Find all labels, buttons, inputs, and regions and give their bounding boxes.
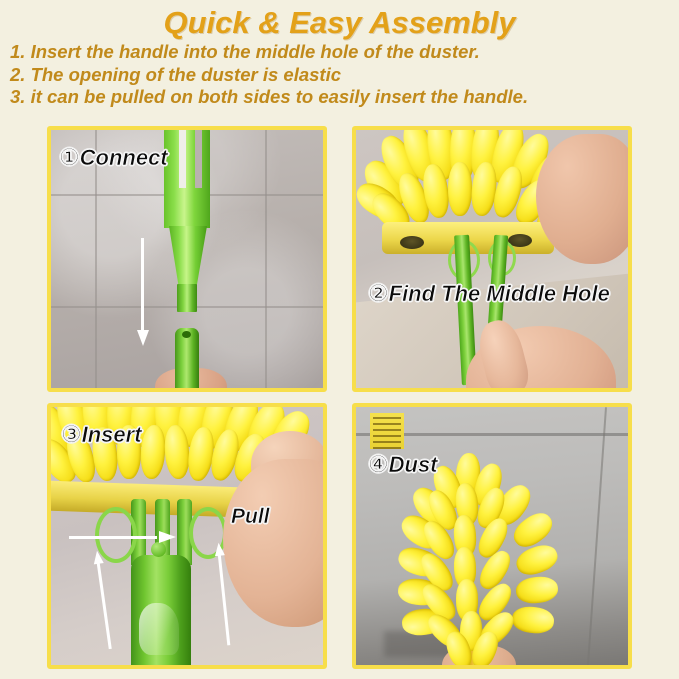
pull-label: Pull <box>231 505 270 529</box>
step-label-dust: ④Dust <box>368 451 438 478</box>
step-panel-find-middle-hole: ②Find The Middle Hole <box>352 126 632 392</box>
photo-dust <box>356 407 628 665</box>
step-number-3: ③ <box>61 421 82 447</box>
page-title: Quick & Easy Assembly <box>0 6 679 40</box>
duster-handle-socket <box>164 130 210 228</box>
photo-find-middle-hole <box>356 130 628 388</box>
step-number-4: ④ <box>368 451 389 477</box>
step-panel-insert: ③Insert Pull <box>47 403 327 669</box>
step-label-connect: ①Connect <box>59 144 168 171</box>
assembled-duster-head <box>408 459 548 649</box>
assembly-step-grid: ①Connect <box>47 126 632 669</box>
handle-connector-hole <box>182 331 191 338</box>
handle-neck <box>177 284 197 312</box>
step-label-find-middle-hole: ②Find The Middle Hole <box>368 280 610 307</box>
step-instruction-1: 1. Insert the handle into the middle hol… <box>0 41 679 64</box>
yellow-sticker <box>370 413 404 449</box>
tile-grout-line <box>265 130 267 388</box>
step-label-text-1: Connect <box>80 145 168 170</box>
step-instruction-2: 2. The opening of the duster is elastic <box>0 64 679 87</box>
handle-highlight <box>139 603 179 655</box>
instruction-header: Quick & Easy Assembly 1. Insert the hand… <box>0 0 679 109</box>
step-panel-dust: ④Dust <box>352 403 632 669</box>
step-label-text-2: Find The Middle Hole <box>389 281 610 306</box>
handle-center-nub <box>151 542 166 557</box>
step-instruction-list: 1. Insert the handle into the middle hol… <box>0 41 679 109</box>
step-number-2: ② <box>368 280 389 306</box>
step-label-insert: ③Insert <box>61 421 142 448</box>
step-instruction-3: 3. it can be pulled on both sides to eas… <box>0 86 679 109</box>
step-label-text-4: Dust <box>389 452 438 477</box>
step-number-1: ① <box>59 144 80 170</box>
handle-slot <box>195 130 202 188</box>
step-label-text-3: Insert <box>82 422 142 447</box>
step-panel-connect: ①Connect <box>47 126 327 392</box>
side-hole-left <box>400 236 424 249</box>
handle-slot <box>179 130 186 188</box>
